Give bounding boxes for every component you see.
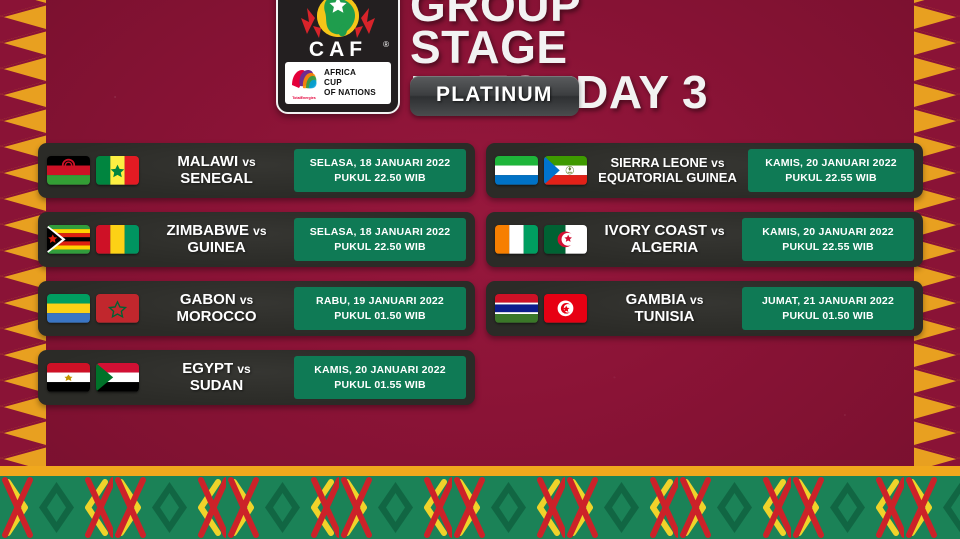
flag-gabon — [47, 294, 90, 323]
away-team-name: EQUATORIAL GUINEA — [591, 171, 744, 186]
home-team-name: EGYPT vs — [143, 361, 290, 378]
match-teams: ZIMBABWE vsGUINEA — [139, 223, 294, 257]
match-date: JUMAT, 21 JANUARI 2022 — [746, 294, 910, 308]
match-kickoff-time: PUKUL 01.50 WIB — [298, 309, 462, 323]
vs-label: vs — [711, 224, 724, 238]
caf-registered-mark: ® — [383, 40, 389, 49]
vs-label: vs — [237, 362, 250, 376]
match-kickoff-time: PUKUL 22.50 WIB — [298, 171, 462, 185]
match-card[interactable]: SIERRA LEONE vsEQUATORIAL GUINEAKAMIS, 2… — [486, 143, 923, 198]
band-motif — [339, 476, 452, 539]
match-card[interactable]: ZIMBABWE vsGUINEASELASA, 18 JANUARI 2022… — [38, 212, 475, 267]
match-time-badge: SELASA, 18 JANUARI 2022PUKUL 22.50 WIB — [294, 218, 466, 260]
match-date: KAMIS, 20 JANUARI 2022 — [752, 156, 910, 170]
band-motif — [904, 476, 960, 539]
flag-equatorial-guinea — [544, 156, 587, 185]
totalenergies-icon: TotalEnergies — [289, 66, 319, 100]
match-flags — [495, 156, 587, 185]
match-flags — [495, 225, 587, 254]
match-date: RABU, 19 JANUARI 2022 — [298, 294, 462, 308]
acn-line-2: CUP — [324, 78, 376, 88]
match-kickoff-time: PUKUL 22.55 WIB — [752, 171, 910, 185]
flag-sudan — [96, 363, 139, 392]
match-kickoff-time: PUKUL 01.55 WIB — [298, 378, 462, 392]
flag-ivory-coast — [495, 225, 538, 254]
caf-logo: CAF ® TotalEnergies AFRICA CUP OF NATION… — [276, 0, 400, 114]
caf-sponsor-block: TotalEnergies AFRICA CUP OF NATIONS — [285, 62, 391, 104]
home-team-name: MALAWI vs — [143, 154, 290, 171]
away-team-name: MOROCCO — [143, 309, 290, 326]
bottom-ornament-band — [0, 476, 960, 539]
totalenergies-label: TotalEnergies — [289, 96, 319, 100]
match-time-badge: SELASA, 18 JANUARI 2022PUKUL 22.50 WIB — [294, 149, 466, 191]
flag-guinea — [96, 225, 139, 254]
match-teams: GAMBIA vsTUNISIA — [587, 292, 742, 326]
match-flags — [47, 363, 139, 392]
match-kickoff-time: PUKUL 01.50 WIB — [746, 309, 910, 323]
match-column-left: MALAWI vsSENEGALSELASA, 18 JANUARI 2022P… — [38, 143, 475, 419]
match-date: SELASA, 18 JANUARI 2022 — [298, 156, 462, 170]
flag-egypt — [47, 363, 90, 392]
poster-canvas: GROUP STAGE MATCHDAY 3 PLATINUM CAF ® — [0, 0, 960, 539]
match-flags — [495, 294, 587, 323]
flag-tunisia — [544, 294, 587, 323]
band-motif — [226, 476, 339, 539]
vs-label: vs — [711, 156, 724, 170]
match-card[interactable]: MALAWI vsSENEGALSELASA, 18 JANUARI 2022P… — [38, 143, 475, 198]
match-card[interactable]: GAMBIA vsTUNISIAJUMAT, 21 JANUARI 2022PU… — [486, 281, 923, 336]
vs-label: vs — [240, 293, 253, 307]
match-teams: IVORY COAST vsALGERIA — [587, 223, 742, 257]
match-flags — [47, 225, 139, 254]
caf-wordmark: CAF — [278, 38, 398, 62]
match-column-right: SIERRA LEONE vsEQUATORIAL GUINEAKAMIS, 2… — [486, 143, 923, 350]
acn-line-3: OF NATIONS — [324, 88, 376, 98]
home-team-name: ZIMBABWE vs — [143, 223, 290, 240]
match-card[interactable]: GABON vsMOROCCORABU, 19 JANUARI 2022PUKU… — [38, 281, 475, 336]
match-time-badge: JUMAT, 21 JANUARI 2022PUKUL 01.50 WIB — [742, 287, 914, 329]
band-motif — [791, 476, 904, 539]
match-time-badge: KAMIS, 20 JANUARI 2022PUKUL 22.55 WIB — [748, 149, 914, 191]
match-teams: GABON vsMOROCCO — [139, 292, 294, 326]
home-team-name: SIERRA LEONE vs — [591, 156, 744, 171]
match-time-badge: KAMIS, 20 JANUARI 2022PUKUL 01.55 WIB — [294, 356, 466, 398]
away-team-name: ALGERIA — [591, 240, 738, 257]
vs-label: vs — [690, 293, 703, 307]
band-motif — [452, 476, 565, 539]
match-date: KAMIS, 20 JANUARI 2022 — [746, 225, 910, 239]
band-motif — [565, 476, 678, 539]
away-team-name: GUINEA — [143, 240, 290, 257]
flag-zimbabwe — [47, 225, 90, 254]
acn-line-1: AFRICA — [324, 68, 376, 78]
bottom-divider-rule — [0, 466, 960, 476]
match-kickoff-time: PUKUL 22.55 WIB — [746, 240, 910, 254]
home-team-name: IVORY COAST vs — [591, 223, 738, 240]
match-card[interactable]: EGYPT vsSUDANKAMIS, 20 JANUARI 2022PUKUL… — [38, 350, 475, 405]
band-motif — [678, 476, 791, 539]
match-teams: SIERRA LEONE vsEQUATORIAL GUINEA — [587, 156, 748, 185]
away-team-name: SENEGAL — [143, 171, 290, 188]
vs-label: vs — [242, 155, 255, 169]
match-date: KAMIS, 20 JANUARI 2022 — [298, 363, 462, 377]
away-team-name: SUDAN — [143, 378, 290, 395]
flag-algeria — [544, 225, 587, 254]
africa-cup-of-nations-label: AFRICA CUP OF NATIONS — [324, 68, 376, 98]
match-time-badge: RABU, 19 JANUARI 2022PUKUL 01.50 WIB — [294, 287, 466, 329]
home-team-name: GABON vs — [143, 292, 290, 309]
match-flags — [47, 294, 139, 323]
flag-sierra-leone — [495, 156, 538, 185]
band-motif — [0, 476, 113, 539]
caf-globe-icon — [299, 0, 377, 42]
platinum-badge: PLATINUM — [410, 76, 579, 116]
match-flags — [47, 156, 139, 185]
match-teams: EGYPT vsSUDAN — [139, 361, 294, 395]
home-team-name: GAMBIA vs — [591, 292, 738, 309]
match-card[interactable]: IVORY COAST vsALGERIAKAMIS, 20 JANUARI 2… — [486, 212, 923, 267]
away-team-name: TUNISIA — [591, 309, 738, 326]
match-kickoff-time: PUKUL 22.50 WIB — [298, 240, 462, 254]
flag-morocco — [96, 294, 139, 323]
flag-senegal — [96, 156, 139, 185]
vs-label: vs — [253, 224, 266, 238]
band-motif — [113, 476, 226, 539]
match-date: SELASA, 18 JANUARI 2022 — [298, 225, 462, 239]
title-line-group-stage: GROUP STAGE — [410, 0, 710, 69]
flag-gambia — [495, 294, 538, 323]
match-teams: MALAWI vsSENEGAL — [139, 154, 294, 188]
match-time-badge: KAMIS, 20 JANUARI 2022PUKUL 22.55 WIB — [742, 218, 914, 260]
flag-malawi — [47, 156, 90, 185]
